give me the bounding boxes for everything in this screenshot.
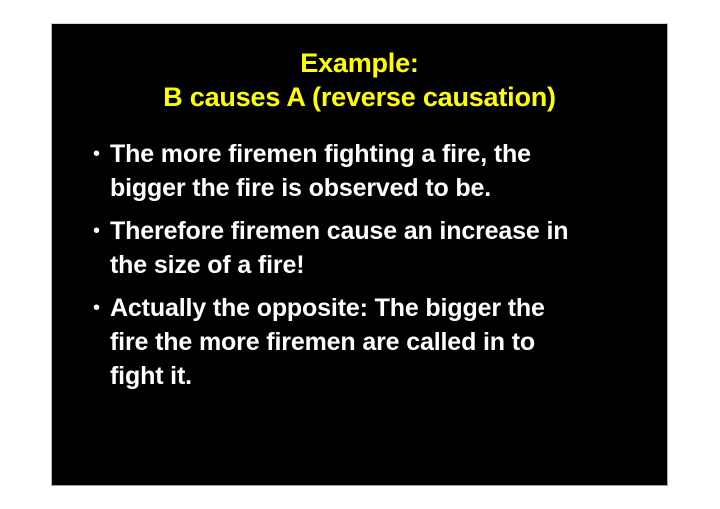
bullet-point-icon: • — [90, 214, 110, 248]
slide-title: Example: B causes A (reverse causation) — [52, 46, 667, 114]
bullet-item-1: • The more firemen fighting a fire, the … — [90, 137, 650, 205]
bullet-item-1-line-2: bigger the fire is observed to be. — [110, 171, 650, 205]
bullet-item-3-line-3: fight it. — [110, 359, 650, 393]
bullet-item-3-text: Actually the opposite: The bigger the fi… — [110, 291, 650, 393]
bullet-item-2-text: Therefore firemen cause an increase in t… — [110, 214, 650, 282]
bullet-item-2-line-1: Therefore firemen cause an increase in — [110, 214, 650, 248]
presentation-slide-viewer: Example: B causes A (reverse causation) … — [0, 0, 720, 509]
slide-bullet-list: • The more firemen fighting a fire, the … — [90, 137, 650, 402]
bullet-item-3-line-2: fire the more firemen are called in to — [110, 325, 650, 359]
bullet-item-3-line-1: Actually the opposite: The bigger the — [110, 291, 650, 325]
bullet-point-icon: • — [90, 137, 110, 171]
slide-title-line-2: B causes A (reverse causation) — [52, 80, 667, 114]
bullet-item-2: • Therefore firemen cause an increase in… — [90, 214, 650, 282]
bullet-item-1-line-1: The more firemen fighting a fire, the — [110, 137, 650, 171]
bullet-point-icon: • — [90, 291, 110, 325]
bullet-item-2-line-2: the size of a fire! — [110, 248, 650, 282]
slide-canvas: Example: B causes A (reverse causation) … — [51, 23, 668, 486]
bullet-item-1-text: The more firemen fighting a fire, the bi… — [110, 137, 650, 205]
slide-title-line-1: Example: — [52, 46, 667, 80]
bullet-item-3: • Actually the opposite: The bigger the … — [90, 291, 650, 393]
